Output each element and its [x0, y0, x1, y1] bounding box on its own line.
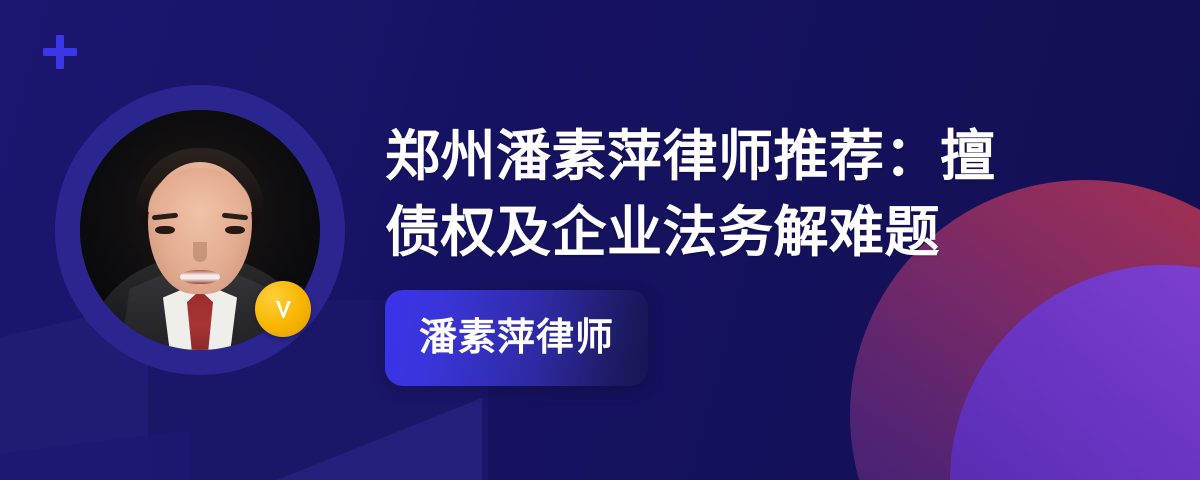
plus-icon [43, 35, 77, 69]
portrait-mouth [180, 270, 220, 284]
portrait-eye-right [225, 226, 245, 234]
content-column: 郑州潘素萍律师推荐：擅 债权及企业法务解难题 潘素萍律师 [385, 118, 1085, 386]
lawyer-name-badge[interactable]: 潘素萍律师 [385, 290, 648, 386]
avatar [55, 85, 345, 375]
lawyer-name-label: 潘素萍律师 [419, 319, 614, 357]
page-title: 郑州潘素萍律师推荐：擅 债权及企业法务解难题 [385, 118, 1085, 270]
portrait-eye-left [155, 226, 175, 234]
lawyer-promo-banner: 郑州潘素萍律师推荐：擅 债权及企业法务解难题 潘素萍律师 [0, 0, 1200, 480]
portrait-nose [193, 242, 207, 262]
verified-badge-icon [255, 281, 311, 337]
portrait-necktie [187, 290, 213, 350]
